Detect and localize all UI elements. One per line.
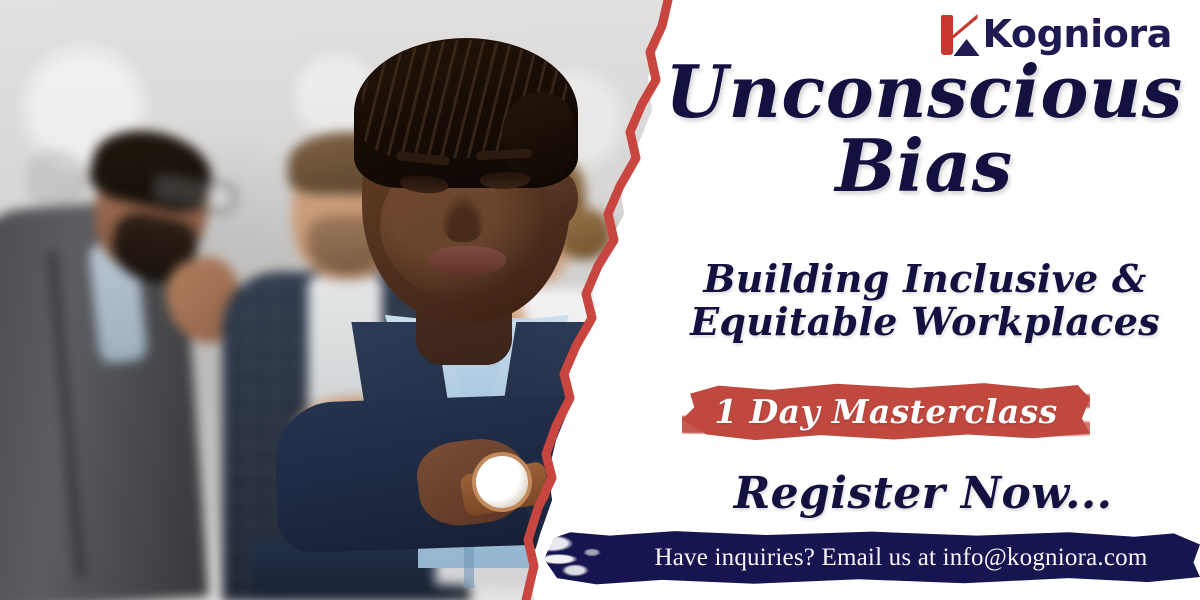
register-now-cta[interactable]: Register Now...: [660, 468, 1186, 519]
badge-label: 1 Day Masterclass: [682, 380, 1090, 442]
content-panel: Kogniora Unconscious Bias Building Inclu…: [660, 0, 1200, 600]
hero-photo: [0, 0, 700, 600]
woman-lips: [428, 246, 506, 276]
woman-nose: [442, 196, 484, 242]
brand-logo-text: Kogniora: [983, 15, 1172, 53]
title-line-two: Bias: [660, 132, 1188, 200]
woman-hair-bun: [502, 92, 576, 184]
title-line-one: Unconscious: [660, 58, 1188, 126]
contact-email-text[interactable]: Have inquiries? Email us at info@kognior…: [544, 530, 1200, 586]
contact-footer-banner: Have inquiries? Email us at info@kognior…: [544, 530, 1200, 586]
event-flyer: Kogniora Unconscious Bias Building Inclu…: [0, 0, 1200, 600]
masterclass-badge: 1 Day Masterclass: [682, 380, 1090, 442]
page-title: Unconscious Bias: [660, 58, 1188, 199]
page-subtitle: Building Inclusive & Equitable Workplace…: [660, 258, 1190, 343]
foreground-woman: [250, 0, 700, 600]
